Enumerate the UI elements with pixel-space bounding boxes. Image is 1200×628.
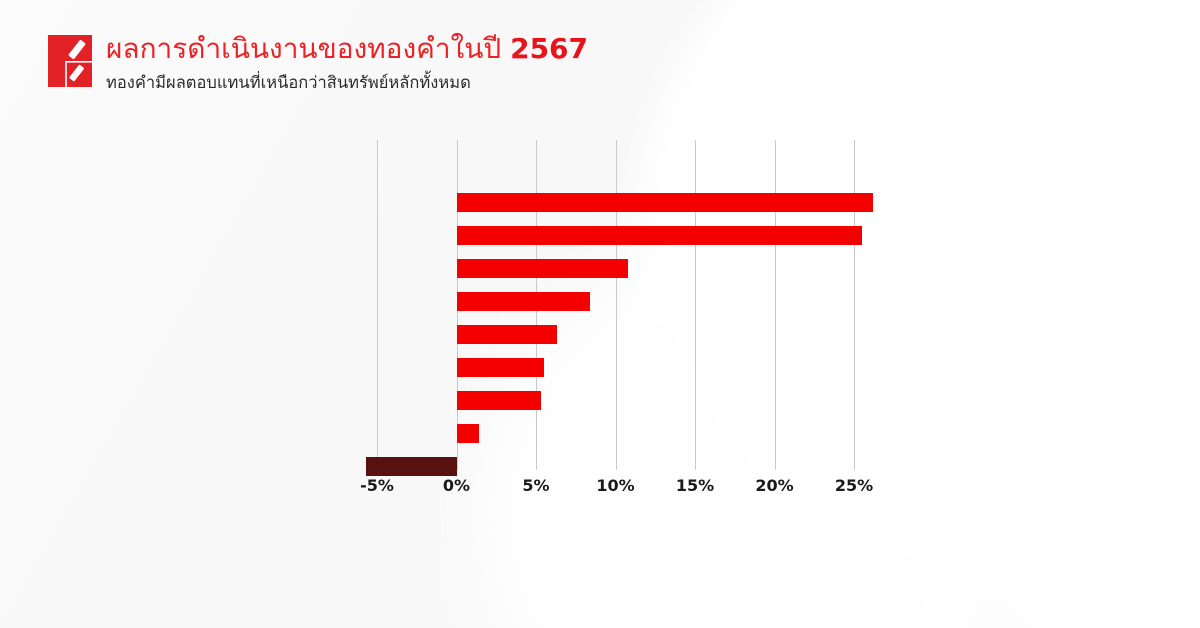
chart-row: หุ้นตลาดเกิดใหม่ [377, 252, 854, 285]
bar[interactable] [366, 457, 457, 476]
x-tick-label: 15% [676, 476, 714, 495]
bar[interactable] [457, 226, 862, 245]
chart-area: ทองคำหุ้นสหรัฐหุ้นตลาดเกิดใหม่พอร์ตการลง… [0, 140, 1200, 500]
title-year: 2567 [510, 32, 588, 65]
chart-row: หุ้นสหรัฐ [377, 219, 854, 252]
bar[interactable] [457, 358, 544, 377]
bar[interactable] [457, 325, 557, 344]
x-tick-label: 10% [596, 476, 634, 495]
x-tick-label: 5% [522, 476, 549, 495]
bar[interactable] [457, 259, 629, 278]
page-subtitle: ทองคำมีผลตอบแทนที่เหนือกว่าสินทรัพย์หลัก… [106, 72, 588, 94]
chart-row: ทองคำ [377, 186, 854, 219]
x-tick-label: 20% [755, 476, 793, 495]
chart-row: เงินสดสหรัฐ [377, 384, 854, 417]
header-text-block: ผลการดำเนินงานของทองคำในปี 2567 ทองคำมีผ… [106, 30, 588, 94]
chart-row: สินค้าโภคภัณฑ์ [377, 417, 854, 450]
x-tick-label: 0% [443, 476, 470, 495]
bar[interactable] [457, 391, 541, 410]
title-main-text: ผลการดำเนินงานของทองคำในปี [106, 32, 510, 65]
gridline-25pct [854, 140, 855, 470]
bar[interactable] [457, 292, 591, 311]
chart-canvas: ผลการดำเนินงานของทองคำในปี 2567 ทองคำมีผ… [0, 0, 1200, 628]
chart-row: พอร์ตการลงทุนสมดุล [377, 285, 854, 318]
x-axis-ticks: -5%0%5%10%15%20%25% [377, 476, 854, 502]
x-tick-label: -5% [360, 476, 394, 495]
x-tick-label: 25% [835, 476, 873, 495]
chart-row: หุ้นตลาดพัฒนาแล้วนอกสหรัฐ [377, 318, 854, 351]
plot-area: ทองคำหุ้นสหรัฐหุ้นตลาดเกิดใหม่พอร์ตการลง… [377, 140, 854, 470]
page-title: ผลการดำเนินงานของทองคำในปี 2567 [106, 30, 588, 68]
bar[interactable] [457, 193, 874, 212]
bar[interactable] [457, 424, 479, 443]
brand-logo-icon [48, 35, 92, 87]
chart-row: พันธบัตรสหรัฐ [377, 351, 854, 384]
